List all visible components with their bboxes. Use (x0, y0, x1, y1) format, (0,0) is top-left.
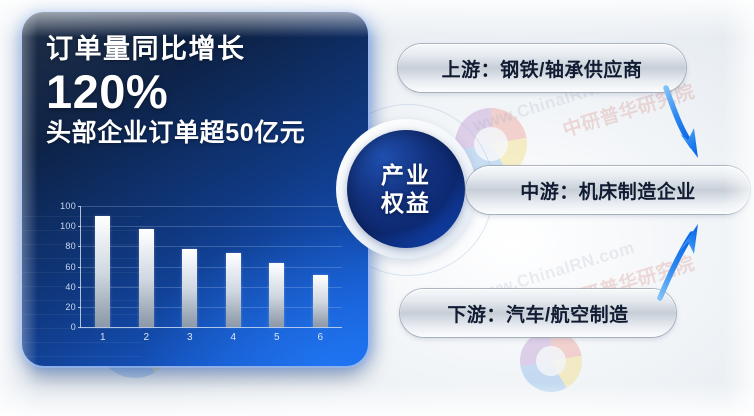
chart-x-tick-label: 6 (317, 332, 323, 343)
chart-bar (313, 275, 328, 327)
watermark-logo-bottom (520, 330, 582, 392)
chart-y-tick-label: 0 (71, 322, 76, 332)
infographic-canvas: www.ChinaIRN.com 中研普华研究院 www.ChinaIRN.co… (0, 0, 754, 416)
card-subline: 头部企业订单超50亿元 (46, 119, 348, 148)
pill-midstream-label: 中游：机床制造企业 (520, 177, 696, 204)
stat-card: 订单量同比增长 120% 头部企业订单超50亿元 100100806040200… (22, 12, 368, 366)
pill-downstream[interactable]: 下游：汽车/航空制造 (400, 289, 676, 337)
chart-y-tick-label: 100 (60, 201, 76, 211)
chart-x-tick-label: 5 (274, 332, 280, 343)
pill-upstream-label: 上游：钢铁/轴承供应商 (442, 55, 643, 82)
arrow-curved-down-icon (650, 84, 730, 170)
arrow-curved-up-icon (650, 212, 730, 302)
chart-x-tick-label: 3 (187, 332, 193, 343)
chart-bar-slot: 3 (171, 206, 209, 327)
chart-y-tick-label: 80 (65, 241, 76, 251)
center-hub-label-line1: 产业 (381, 161, 431, 189)
chart-gridline (81, 327, 342, 328)
bar-chart: 100100806040200 123456 (46, 202, 346, 352)
chart-bar-slot: 4 (214, 206, 252, 327)
card-headline: 订单量同比增长 (46, 34, 348, 64)
pill-upstream[interactable]: 上游：钢铁/轴承供应商 (398, 44, 686, 92)
chart-bar-slot: 1 (84, 206, 122, 327)
chart-y-tick-mark (78, 327, 81, 328)
chart-plot-area: 100100806040200 123456 (80, 206, 342, 328)
chart-bar-slot: 6 (301, 206, 339, 327)
chart-bar (226, 253, 241, 327)
pill-downstream-label: 下游：汽车/航空制造 (447, 300, 628, 327)
chart-x-tick-label: 1 (100, 332, 106, 343)
chart-y-tick-label: 60 (65, 262, 76, 272)
center-hub-label-line2: 权益 (381, 189, 431, 217)
card-big-number: 120% (46, 66, 348, 118)
card-content: 订单量同比增长 120% 头部企业订单超50亿元 (22, 12, 368, 148)
chart-bar-slot: 2 (127, 206, 165, 327)
pill-midstream[interactable]: 中游：机床制造企业 (466, 166, 750, 214)
chart-bar (139, 229, 154, 327)
chart-y-tick-label: 40 (65, 282, 76, 292)
chart-bar (95, 216, 110, 327)
chart-y-tick-label: 20 (65, 302, 76, 312)
chart-y-tick-label: 100 (60, 221, 76, 231)
chart-bars: 123456 (81, 206, 342, 327)
chart-bar (269, 263, 284, 327)
chart-bar (182, 249, 197, 327)
chart-bar-slot: 5 (258, 206, 296, 327)
center-hub: 产业 权益 (336, 119, 476, 259)
chart-x-tick-label: 4 (230, 332, 236, 343)
center-hub-circle: 产业 权益 (347, 130, 465, 248)
chart-x-tick-label: 2 (143, 332, 149, 343)
